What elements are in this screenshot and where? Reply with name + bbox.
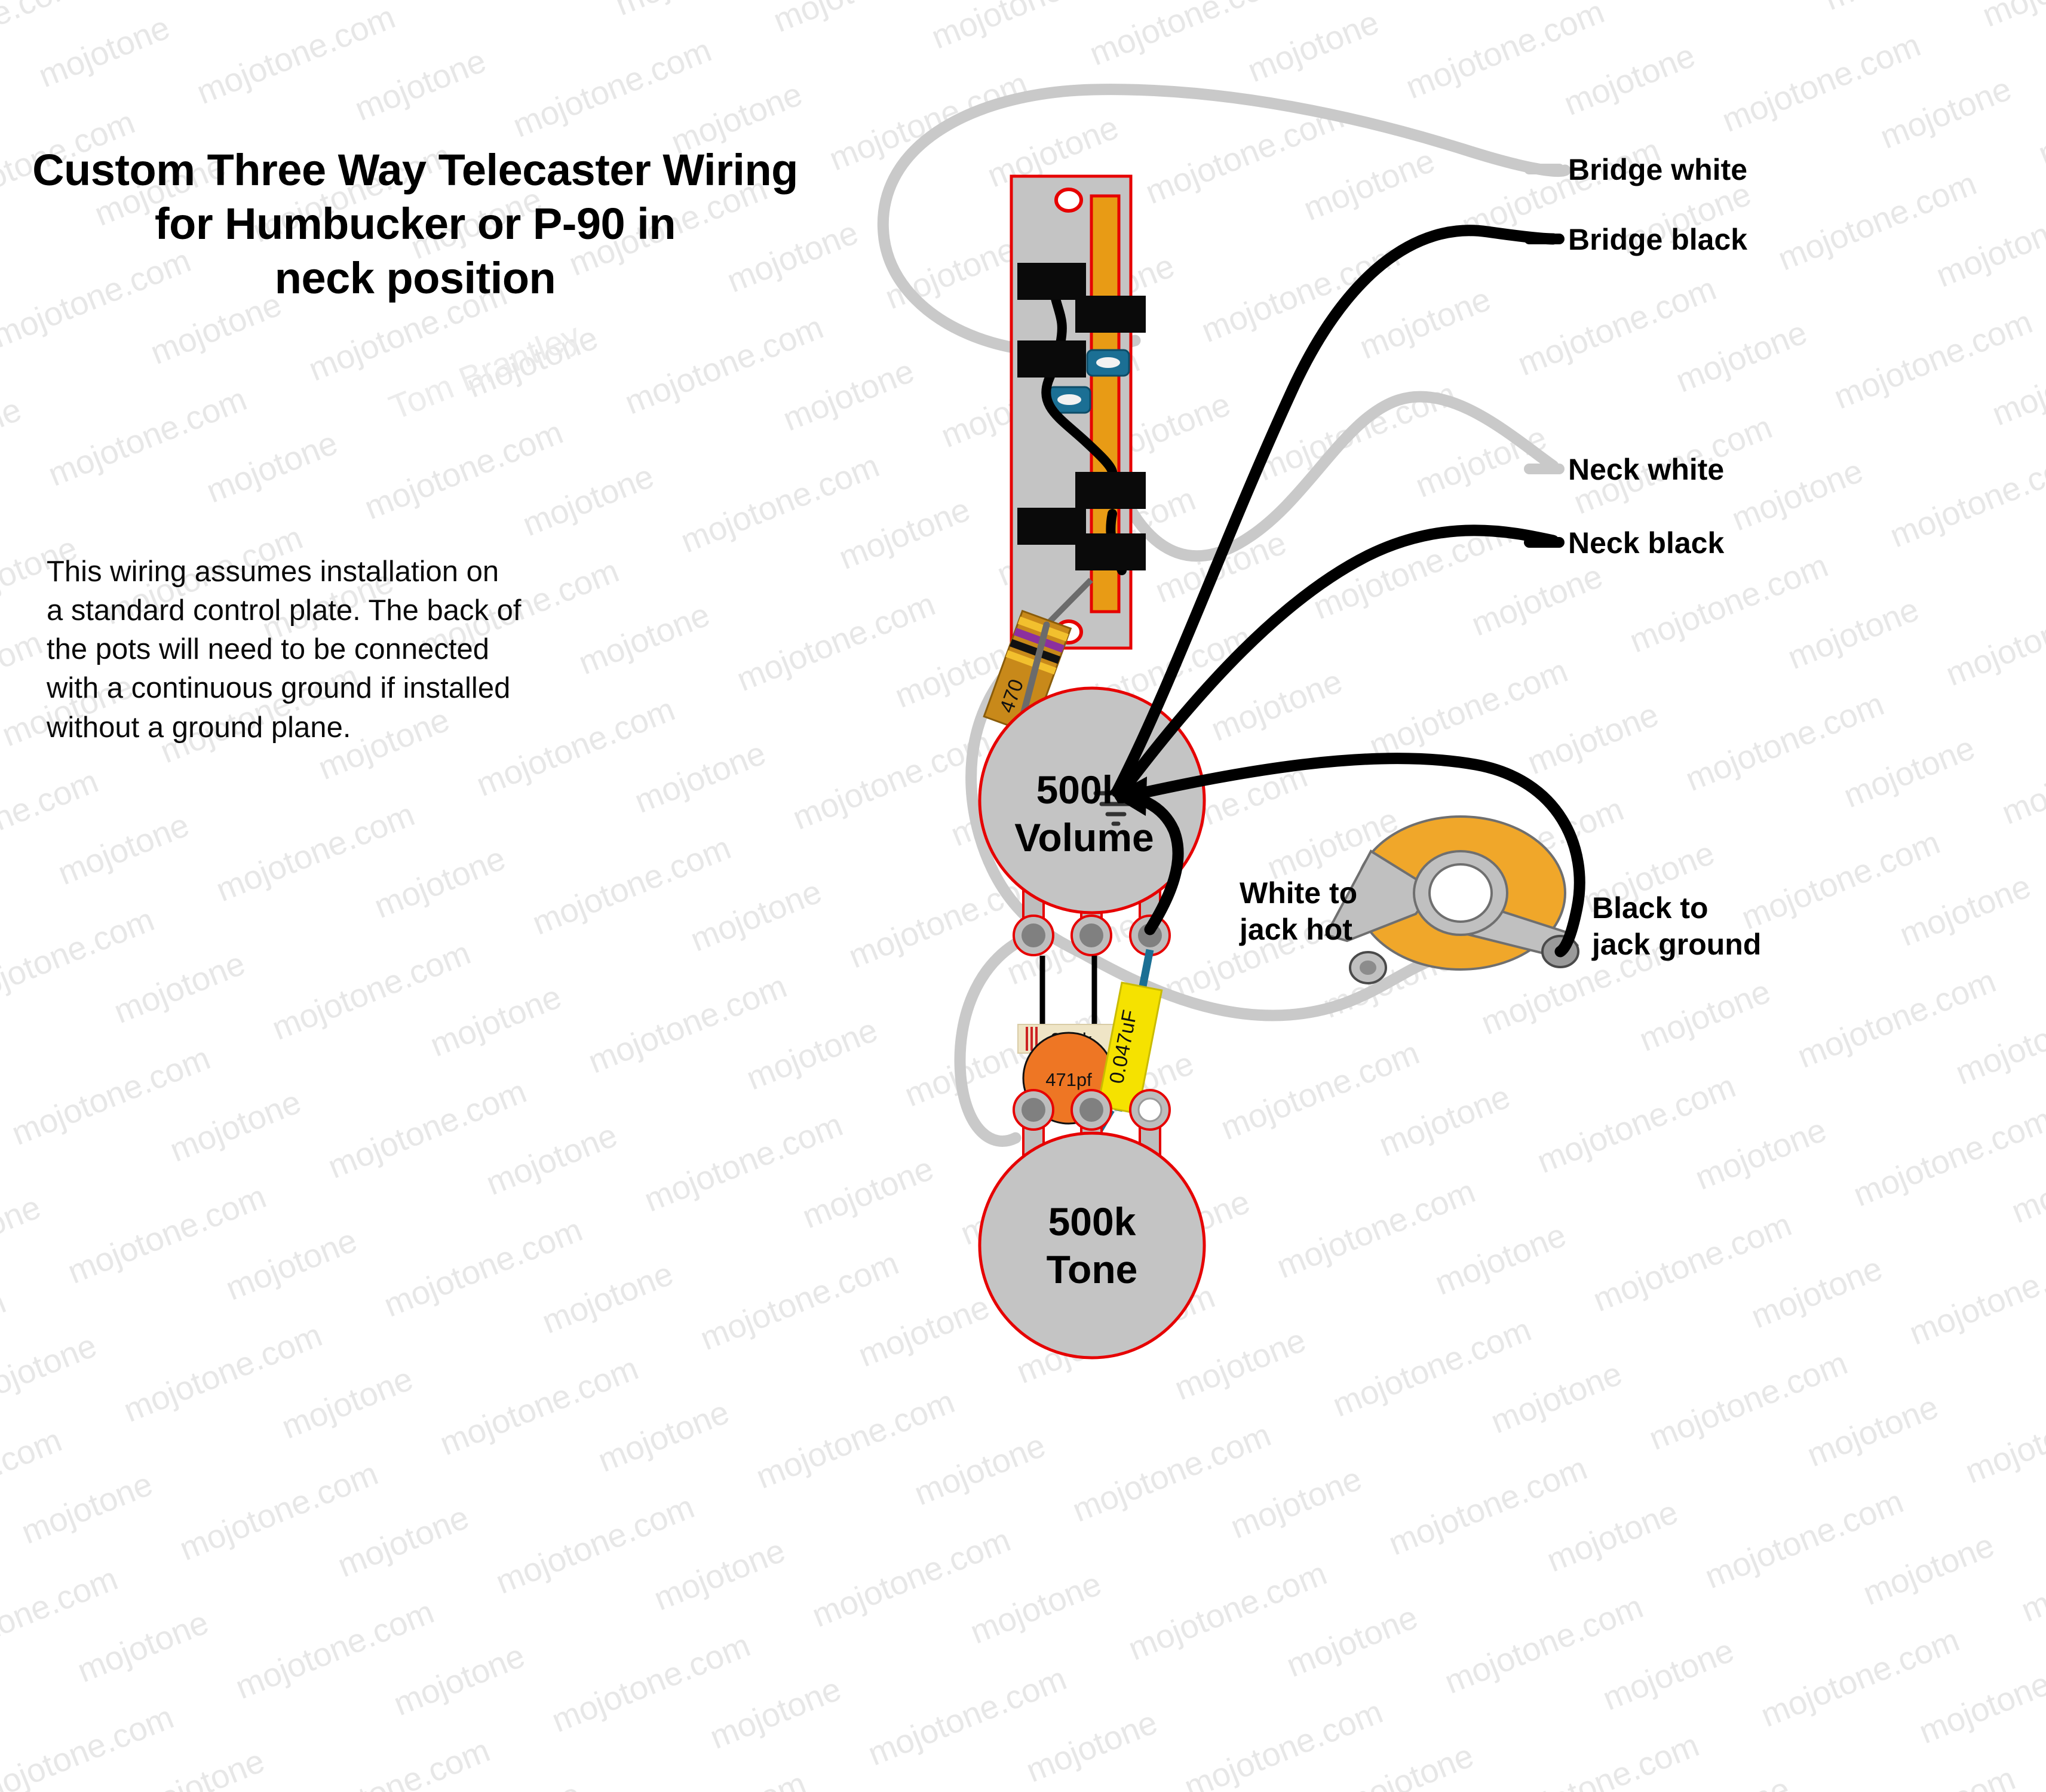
wire-bridge-white — [883, 90, 1565, 352]
callout-black-to-jack-ground-line-1: Black to — [1592, 890, 1761, 926]
volume-pot-value: 500k — [1036, 768, 1124, 812]
tone-pot-value: 500k — [1048, 1199, 1136, 1244]
output-jack — [1326, 817, 1578, 983]
note-line-2: a standard control plate. The back of — [47, 591, 620, 630]
callout-bridge-white: Bridge white — [1568, 152, 1747, 187]
callout-white-to-jack-hot: White to jack hot — [1240, 875, 1357, 948]
callout-neck-white: Neck white — [1568, 452, 1724, 487]
tone-pot-lugs — [1014, 1090, 1170, 1130]
note-line-1: This wiring assumes installation on — [47, 553, 620, 591]
callout-bridge-black: Bridge black — [1568, 222, 1747, 257]
callout-black-to-jack-ground: Black to jack ground — [1592, 890, 1761, 963]
switch-lug-4 — [1075, 472, 1146, 509]
tone-pot-body — [980, 1133, 1204, 1358]
title-line-2: for Humbucker or P-90 in — [24, 197, 806, 251]
jack-center-hole — [1430, 864, 1492, 922]
three-way-switch-assembly — [1011, 176, 1146, 648]
tone-pot: 500k Tone — [980, 1090, 1204, 1358]
capacitor-471pf-label: 471pf — [1045, 1069, 1092, 1090]
note-line-5: without a ground plane. — [47, 708, 620, 747]
switch-lug-3 — [1075, 296, 1146, 333]
volume-pot-name: Volume — [1014, 815, 1154, 860]
title-line-1: Custom Three Way Telecaster Wiring — [24, 143, 806, 197]
note-line-3: the pots will need to be connected — [47, 630, 620, 669]
note-line-4: with a continuous ground if installed — [47, 669, 620, 708]
white-wire-group — [883, 90, 1565, 1142]
callout-white-to-jack-hot-line-1: White to — [1240, 875, 1357, 912]
switch-mount-hole-top — [1056, 189, 1081, 211]
page-title: Custom Three Way Telecaster Wiring for H… — [24, 143, 806, 305]
tone-pot-name: Tone — [1047, 1247, 1138, 1291]
switch-lug-2 — [1017, 340, 1086, 378]
switch-lug-6 — [1075, 533, 1146, 570]
installation-note: This wiring assumes installation on a st… — [47, 553, 620, 747]
title-line-3: neck position — [24, 251, 806, 305]
callout-white-to-jack-hot-line-2: jack hot — [1240, 912, 1357, 948]
switch-lug-1 — [1017, 263, 1086, 300]
callout-black-to-jack-ground-line-2: jack ground — [1592, 926, 1761, 963]
callout-neck-black: Neck black — [1568, 526, 1724, 560]
callout-tick-marks — [1529, 169, 1559, 542]
diagram-canvas: mojotone.com mojotone.com Tom Brantley — [0, 0, 2046, 1480]
